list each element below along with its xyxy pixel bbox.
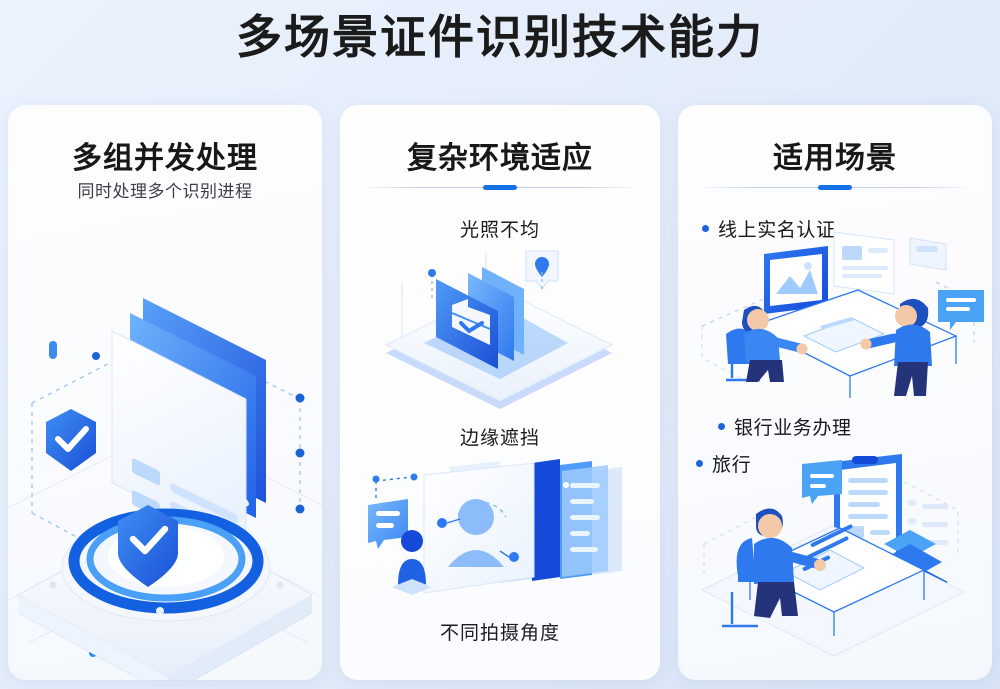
divider-accent: [818, 185, 852, 190]
card1-subtitle: 同时处理多个识别进程: [8, 177, 322, 202]
card2-divider: [366, 185, 634, 189]
card-use-cases: 适用场景 线上实名认证: [678, 105, 992, 680]
card3-divider: [704, 185, 966, 189]
card-complex-environment: 复杂环境适应 光照不均: [340, 105, 660, 680]
illustration-office-verification: [688, 230, 988, 400]
card2-title: 复杂环境适应: [340, 133, 660, 177]
illustration-document-stack-shield: [8, 213, 322, 680]
card2-label-2: 边缘遮挡: [340, 423, 660, 450]
divider-accent: [483, 185, 517, 190]
illustration-face-recognition: [354, 453, 646, 613]
card2-label-3: 不同拍摄角度: [340, 618, 660, 645]
illustration-travel-desk: [692, 440, 984, 670]
bullet-bank-services: 银行业务办理: [718, 413, 852, 440]
card1-title: 多组并发处理: [8, 133, 322, 177]
bullet-label: 银行业务办理: [734, 413, 852, 440]
card-multi-concurrent: 多组并发处理 同时处理多个识别进程: [8, 105, 322, 680]
bullet-dot: [718, 423, 725, 430]
page-title: 多场景证件识别技术能力: [0, 6, 1000, 68]
illustration-folder-platform: [362, 245, 638, 405]
card2-label-1: 光照不均: [340, 215, 660, 242]
card3-title: 适用场景: [678, 133, 992, 177]
infographic-page: 多场景证件识别技术能力 多组并发处理 同时处理多个识别进程: [0, 0, 1000, 689]
